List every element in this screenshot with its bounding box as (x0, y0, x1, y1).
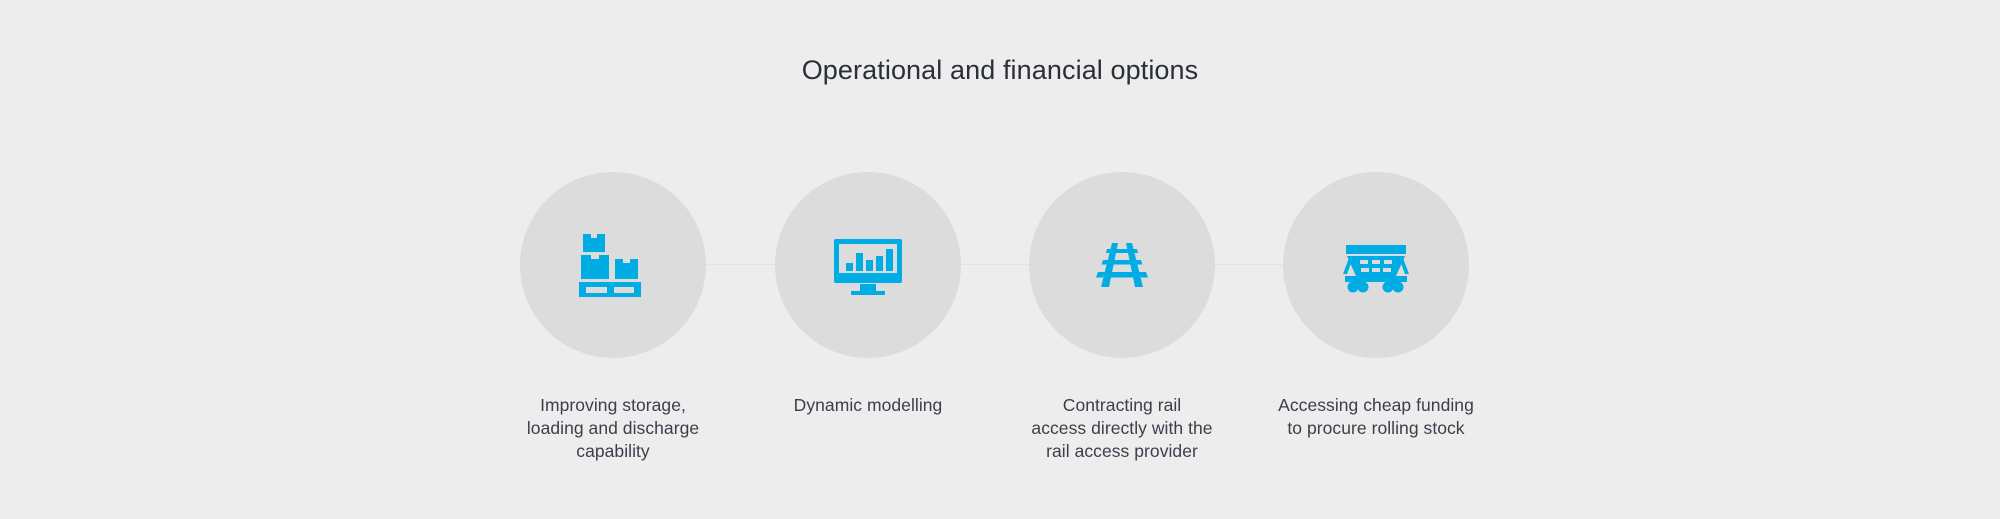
step-2-circle (775, 172, 961, 358)
step-4-label: Accessing cheap funding to procure rolli… (1246, 394, 1506, 440)
step-1-label: Improving storage, loading and discharge… (488, 394, 738, 463)
pallet-boxes-icon (577, 229, 649, 301)
railway-track-icon (1086, 229, 1158, 301)
infographic-canvas: Operational and financial options (0, 0, 2000, 519)
monitor-bar-chart-icon (832, 229, 904, 301)
step-1-circle (520, 172, 706, 358)
step-item-3[interactable]: Contracting rail access directly with th… (987, 172, 1257, 463)
step-3-label: Contracting rail access directly with th… (987, 394, 1257, 463)
steps-row: Improving storage, loading and discharge… (0, 0, 2000, 519)
step-item-4[interactable]: Accessing cheap funding to procure rolli… (1246, 172, 1506, 440)
step-4-circle (1283, 172, 1469, 358)
step-2-label: Dynamic modelling (743, 394, 993, 417)
step-3-circle (1029, 172, 1215, 358)
step-item-1[interactable]: Improving storage, loading and discharge… (488, 172, 738, 463)
step-item-2[interactable]: Dynamic modelling (743, 172, 993, 417)
rail-hopper-wagon-icon (1340, 229, 1412, 301)
